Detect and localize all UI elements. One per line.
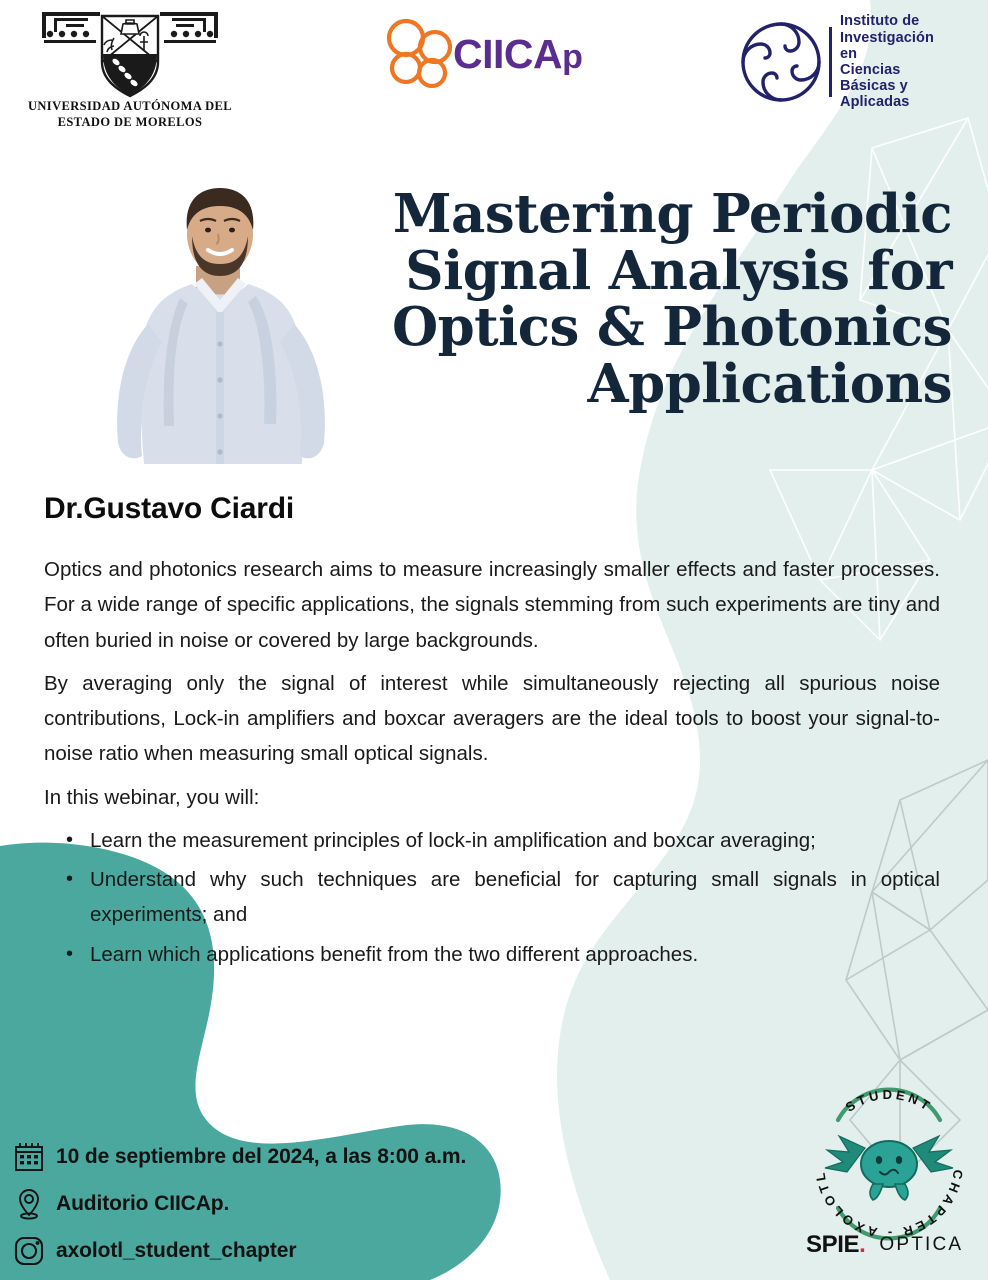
iicba-line-1: Instituto de	[840, 13, 950, 29]
four-circles-icon	[385, 18, 457, 90]
body-copy: Optics and photonics research aims to me…	[44, 552, 940, 976]
axolotl-mascot-icon: STUDENT CHAPTER - AXOLOTL	[798, 1072, 980, 1250]
calendar-icon	[12, 1140, 46, 1174]
spiral-icon	[735, 16, 827, 108]
logo-ciicap: CIICAp	[385, 18, 580, 90]
iicba-line-3: Ciencias	[840, 62, 950, 78]
ciicap-word-p: p	[562, 38, 582, 76]
instagram-row[interactable]: axolotl_student_chapter	[12, 1234, 572, 1268]
spie-logo: SPIE.	[806, 1231, 865, 1259]
axolotl-student-chapter-logo: STUDENT CHAPTER - AXOLOTL	[798, 1072, 980, 1250]
page-title: Mastering Periodic Signal Analysis for O…	[360, 186, 952, 413]
ciicap-word: CIICA	[453, 31, 562, 77]
iicba-wordmark: Instituto de Investigación en Ciencias B…	[840, 13, 950, 110]
ciicap-wordmark: CIICAp	[453, 34, 582, 75]
paragraph-1: Optics and photonics research aims to me…	[44, 552, 940, 658]
list-item: Learn the measurement principles of lock…	[90, 823, 940, 858]
iicba-divider	[829, 27, 832, 97]
bullet-list: Learn the measurement principles of lock…	[44, 823, 940, 972]
shield-crest-icon	[30, 4, 230, 99]
speaker-photo	[88, 174, 352, 474]
list-item: Understand why such techniques are benef…	[90, 862, 940, 933]
uaem-line-1: Universidad Autónoma del	[28, 99, 232, 115]
event-details: 10 de septiembre del 2024, a las 8:00 a.…	[12, 1140, 572, 1280]
paragraph-2: By averaging only the signal of interest…	[44, 666, 940, 772]
title-line-2: Signal Analysis for	[360, 243, 952, 300]
location-pin-icon	[12, 1187, 46, 1221]
instagram-handle[interactable]: axolotl_student_chapter	[56, 1239, 296, 1263]
title-line-3: Optics & Photonics	[360, 299, 952, 356]
logo-uaem: Universidad Autónoma del Estado de Morel…	[12, 4, 248, 146]
uaem-line-2: Estado de Morelos	[58, 115, 203, 131]
title-line-1: Mastering Periodic	[360, 186, 952, 243]
event-poster: Universidad Autónoma del Estado de Morel…	[0, 0, 988, 1280]
logo-iicba: Instituto de Investigación en Ciencias B…	[735, 14, 950, 110]
list-item: Learn which applications benefit from th…	[90, 937, 940, 972]
iicba-line-5: Aplicadas	[840, 94, 950, 110]
spie-dot: .	[859, 1231, 865, 1258]
header-logos: Universidad Autónoma del Estado de Morel…	[0, 0, 988, 150]
iicba-line-4: Básicas y	[840, 78, 950, 94]
speaker-name: Dr.Gustavo Ciardi	[44, 492, 294, 526]
instagram-icon[interactable]	[12, 1234, 46, 1268]
iicba-line-2: Investigación en	[840, 30, 950, 62]
paragraph-3: In this webinar, you will:	[44, 780, 940, 815]
event-date-row: 10 de septiembre del 2024, a las 8:00 a.…	[12, 1140, 572, 1174]
optica-logo: OPTICA	[879, 1234, 963, 1256]
event-location-row: Auditorio CIICAp.	[12, 1187, 572, 1221]
spie-wordmark: SPIE	[806, 1231, 859, 1258]
event-date-text: 10 de septiembre del 2024, a las 8:00 a.…	[56, 1145, 466, 1169]
event-location-text: Auditorio CIICAp.	[56, 1192, 229, 1216]
society-logos: SPIE. OPTICA	[806, 1228, 982, 1262]
title-line-4: Applications	[360, 356, 952, 413]
